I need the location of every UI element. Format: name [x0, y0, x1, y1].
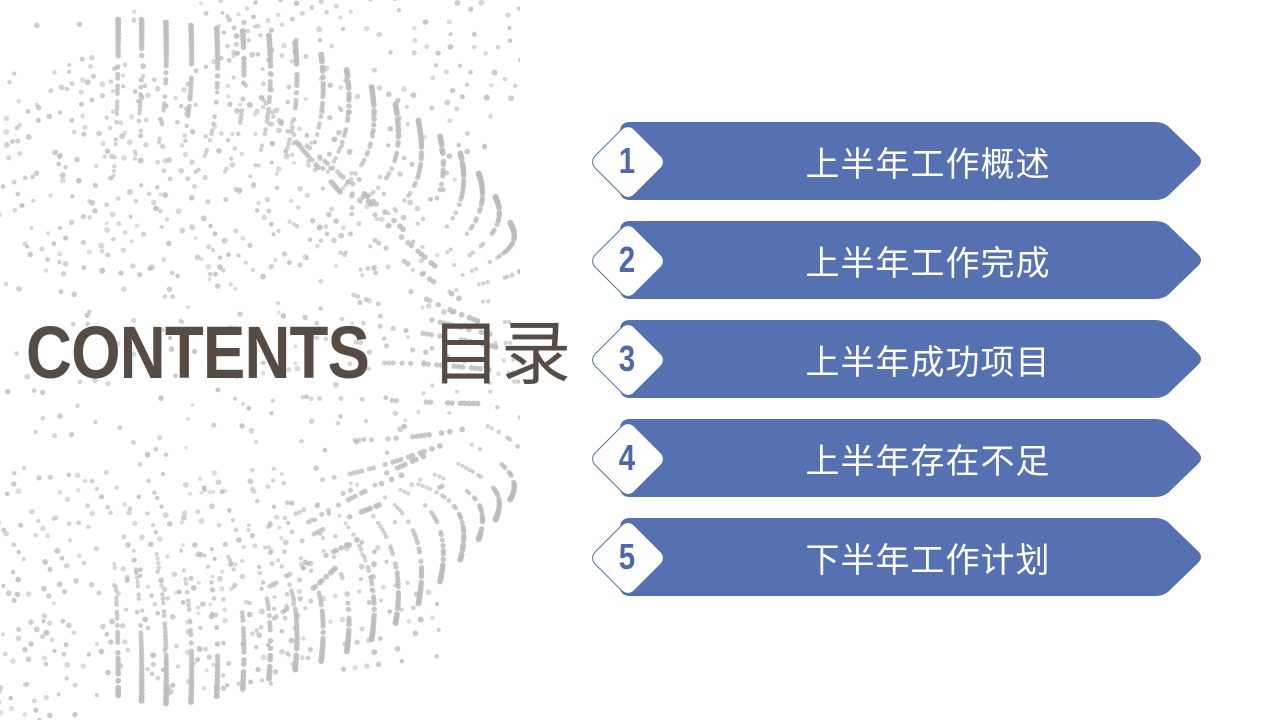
contents-item-number: 5	[599, 523, 655, 591]
contents-item-banner	[620, 221, 1203, 299]
contents-item-number-badge: 3	[593, 325, 661, 393]
contents-item-banner	[620, 518, 1203, 596]
contents-item-5[interactable]: 下半年工作计划5	[593, 518, 1203, 596]
contents-item-number-badge: 1	[593, 127, 661, 195]
contents-item-4[interactable]: 上半年存在不足4	[593, 419, 1203, 497]
contents-item-number-badge: 2	[593, 226, 661, 294]
page-title-chinese: 目录	[431, 319, 571, 389]
page-title: CONTENTS 目录	[26, 316, 571, 390]
contents-item-number: 3	[599, 325, 655, 393]
contents-item-2[interactable]: 上半年工作完成2	[593, 221, 1203, 299]
contents-list: 上半年工作概述1上半年工作完成2上半年成功项目3上半年存在不足4下半年工作计划5	[593, 122, 1203, 596]
contents-item-banner	[620, 419, 1203, 497]
contents-item-banner	[620, 122, 1203, 200]
page-title-english: CONTENTS	[26, 316, 369, 390]
contents-item-1[interactable]: 上半年工作概述1	[593, 122, 1203, 200]
contents-item-3[interactable]: 上半年成功项目3	[593, 320, 1203, 398]
contents-item-number-badge: 5	[593, 523, 661, 591]
contents-item-number: 4	[599, 424, 655, 492]
presentation-slide: CONTENTS 目录 上半年工作概述1上半年工作完成2上半年成功项目3上半年存…	[0, 0, 1280, 720]
contents-item-banner	[620, 320, 1203, 398]
contents-item-number: 2	[599, 226, 655, 294]
contents-item-number: 1	[599, 127, 655, 195]
contents-item-number-badge: 4	[593, 424, 661, 492]
